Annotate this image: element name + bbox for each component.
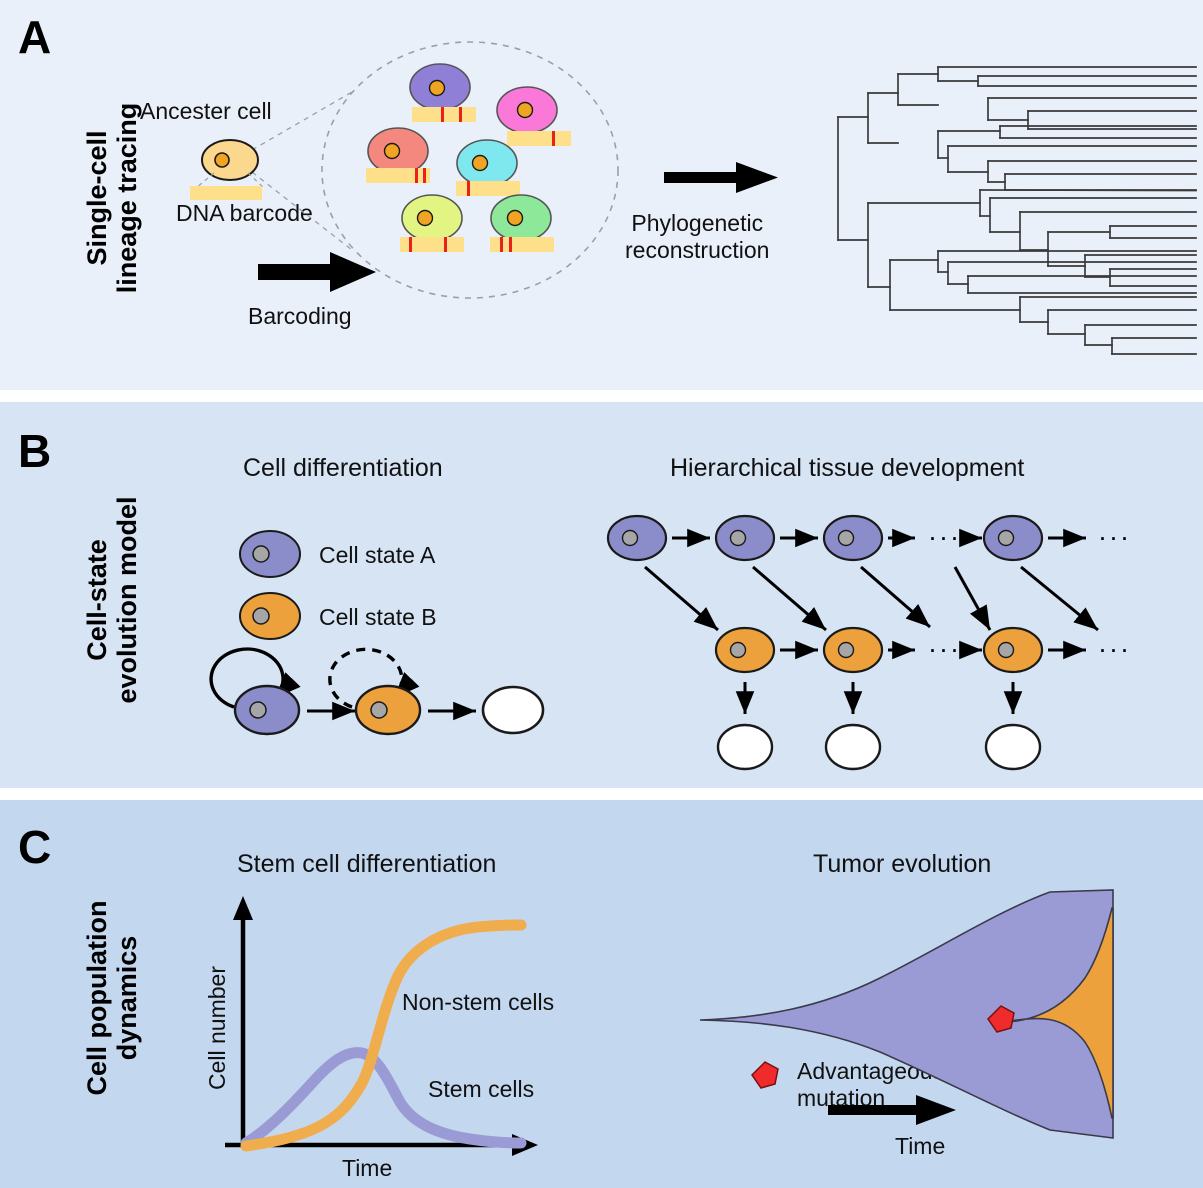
hier-diag-arrow-5 [1021, 567, 1098, 630]
barcoded-cell-cyan-nucleus [473, 156, 488, 171]
advantageous-mutation-marker-legend [752, 1062, 778, 1088]
ancestor-dna-barcode [190, 186, 262, 200]
hier-cell-dead-3 [986, 725, 1040, 769]
panel-b: B Cell-state evolution model Cell differ… [0, 402, 1203, 788]
hier-ellipsis-b-1: ··· [928, 634, 961, 664]
barcoded-cell-salmon-nucleus [385, 144, 400, 159]
phylogenetic-tree [838, 67, 1196, 354]
ancestor-barcode-leader-right [248, 173, 264, 188]
stem-cells-curve [246, 1053, 521, 1143]
barcode-green-tick-1 [500, 237, 503, 252]
panel-b-graphics: ··· ··· ··· ··· [0, 402, 1203, 788]
barcode-magenta [507, 131, 571, 146]
phylogenetic-arrow [664, 162, 778, 193]
barcode-yellow-tick-2 [444, 237, 447, 252]
barcode-green-tick-2 [509, 237, 512, 252]
panel-c: C Cell population dynamics Stem cell dif… [0, 800, 1203, 1188]
diff-chain-cell-a [235, 686, 299, 734]
barcode-salmon-tick-1 [415, 168, 418, 183]
barcoded-cell-magenta-nucleus [518, 103, 533, 118]
hier-diag-arrow-4 [955, 567, 990, 630]
hier-ellipsis-b-2: ··· [1098, 634, 1131, 664]
magnifier-leader-bottom [252, 172, 352, 250]
barcode-purple-tick-1 [441, 107, 444, 122]
barcode-green [490, 237, 554, 252]
barcoding-arrow [258, 252, 376, 292]
hier-cell-a-4-nucleus [999, 531, 1014, 546]
panel-a: A Single-cell lineage tracing Ancester c… [0, 0, 1203, 390]
tumor-time-arrow [828, 1095, 956, 1125]
barcode-salmon-tick-2 [423, 168, 426, 183]
hier-cell-b-2-nucleus [839, 643, 854, 658]
magnifier-leader-top [252, 92, 352, 150]
barcode-cyan-tick-1 [467, 181, 470, 196]
hier-ellipsis-a-1: ··· [928, 522, 961, 552]
hier-cell-dead-1 [718, 725, 772, 769]
barcode-salmon [366, 168, 430, 183]
legend-cell-state-a [240, 531, 300, 577]
ancestor-cell-nucleus [215, 153, 229, 167]
barcoded-cell-yellow-nucleus [418, 211, 433, 226]
figure-root: A Single-cell lineage tracing Ancester c… [0, 0, 1203, 1188]
legend-cell-state-a-nucleus [253, 546, 269, 562]
hier-diag-arrow-2 [753, 567, 826, 630]
barcoded-cell-purple-nucleus [430, 81, 445, 96]
hier-cell-b-3-nucleus [999, 643, 1014, 658]
hier-ellipsis-a-2: ··· [1098, 522, 1131, 552]
barcode-purple-tick-2 [459, 107, 462, 122]
hier-cell-b-1-nucleus [731, 643, 746, 658]
tumor-evolution-plot [700, 890, 1113, 1138]
legend-cell-state-b-nucleus [253, 608, 269, 624]
diff-chain-cell-b-nucleus [371, 702, 387, 718]
y-axis-arrowhead [233, 896, 253, 920]
legend-cell-state-b [240, 593, 300, 639]
diff-chain-cell-b [356, 686, 420, 734]
hier-cell-a-1-nucleus [623, 531, 638, 546]
hier-diag-arrow-1 [645, 567, 718, 630]
hier-cell-a-3-nucleus [839, 531, 854, 546]
diff-chain-cell-dead [483, 687, 543, 733]
barcode-magenta-tick-1 [552, 131, 555, 146]
ancestor-barcode-leader-left [196, 173, 214, 188]
hier-cell-a-2-nucleus [731, 531, 746, 546]
hier-diag-arrow-3 [861, 567, 930, 627]
barcode-cyan [456, 181, 520, 196]
panel-c-graphics [0, 800, 1203, 1188]
barcoded-cell-green-nucleus [508, 211, 523, 226]
panel-a-graphics [0, 0, 1203, 390]
hier-cell-dead-2 [826, 725, 880, 769]
barcode-yellow-tick-1 [409, 237, 412, 252]
diff-chain-cell-a-nucleus [250, 702, 266, 718]
